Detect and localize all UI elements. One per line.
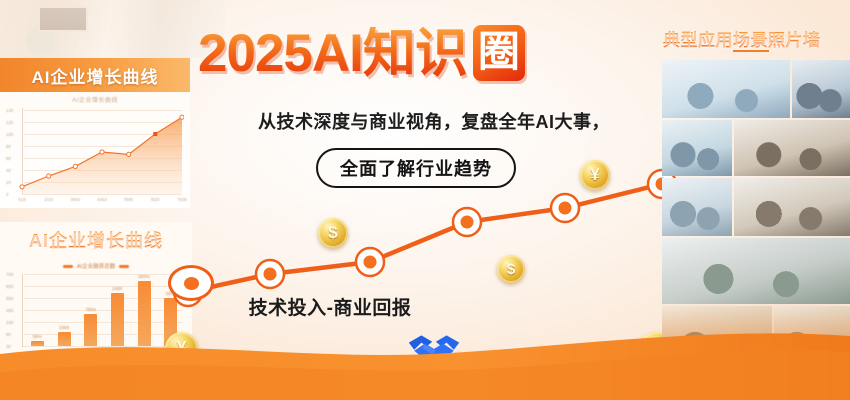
coin-dollar-low: $ [497,255,525,283]
growth-marker-dot [559,202,572,215]
title-boxed-char: 圈 [473,25,525,81]
coin-yen-top: ¥ [580,160,610,190]
line-marker [100,150,104,154]
bar-y-tick: 550 [6,296,13,301]
photo-office-analyst [734,120,850,176]
photo-wall-title: 典型应用场景照片墙 [663,26,821,51]
line-marker [20,185,24,189]
poster-title: 2025AI知识 圈 [198,25,525,81]
bar-value-label: 7504 [86,307,96,312]
card-bar-header-label: AI企业增长曲线 [29,227,163,253]
line-chart-title: AI企业增长曲线 [0,95,190,104]
legend-swatch-icon [63,265,73,268]
bar-value-label: 260% [138,274,150,279]
legend-swatch-icon-2 [119,265,129,268]
photo-cleanroom-line [662,178,732,236]
line-chart-svg [4,106,184,202]
bar-y-tick: 700 [6,272,13,277]
bottom-wave-decoration [0,320,850,400]
line-marker [180,115,184,119]
photo-wall-underline [733,50,769,52]
line-chart-plot: 140120100806040200 6182/1038404453f500f6… [4,106,184,202]
bar-y-tick: 460 [6,308,13,313]
line-marker [47,174,51,178]
card-line-header: AI企业增长曲线 [0,58,190,92]
card-line-header-label: AI企业增长曲线 [32,63,159,88]
bar-y-tick: 650 [6,284,13,289]
growth-marker-dot [364,256,377,269]
bar-chart-legend-label: AI企业融资总额 [77,262,115,270]
photo-factory-automation [662,238,850,304]
growth-line-caption: 技术投入-商业回报 [180,293,480,320]
line-marker [127,152,131,156]
coin-dollar-mid: $ [318,218,348,248]
bar-value-label: 2450 [112,286,122,291]
line-marker [73,164,77,168]
photo-engineer-console [792,60,850,118]
photo-lab-technician [662,120,732,176]
poster-subtitle: 从技术深度与商业视角，复盘全年AI大事， [199,108,669,134]
chart-point-badge [168,265,214,301]
badge-dot-icon [184,277,199,290]
photo-medical-team [662,60,790,118]
growth-marker-dot [264,268,277,281]
background-photo-strip [0,0,225,58]
photo-doctor-laptop [734,178,850,236]
growth-marker-dot [461,216,474,229]
line-highlight-marker [153,132,157,136]
poster-canvas: AI企业增长曲线 AI企业增长曲线 140120100806040200 618… [0,0,850,400]
title-main-text: 2025AI知识 [198,27,467,80]
